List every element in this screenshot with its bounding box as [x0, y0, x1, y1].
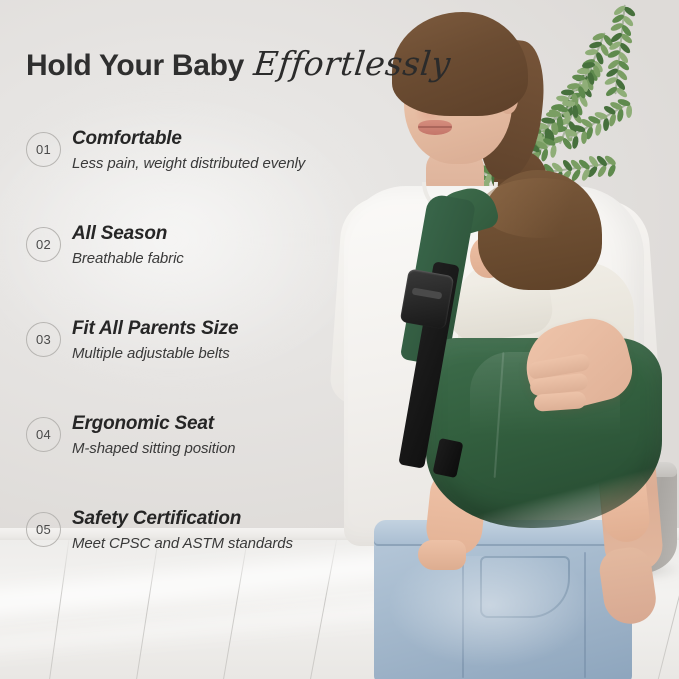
feature-title: Comfortable — [72, 128, 182, 150]
feature-title: Fit All Parents Size — [72, 318, 238, 340]
feature-number-badge: 01 — [26, 132, 61, 167]
feature-item: 01 Comfortable Less pain, weight distrib… — [20, 128, 350, 223]
headline: Hold Your Baby Effortlessly — [26, 44, 451, 83]
feature-subtitle: M-shaped sitting position — [72, 440, 235, 457]
jeans-fade-highlight — [390, 556, 590, 666]
finger-3 — [533, 391, 586, 412]
lips — [418, 120, 452, 135]
feature-title: All Season — [72, 223, 167, 245]
feature-list: 01 Comfortable Less pain, weight distrib… — [20, 128, 350, 603]
carrier-buckle — [400, 268, 455, 329]
baby-hair — [480, 178, 600, 238]
feature-item: 04 Ergonomic Seat M-shaped sitting posit… — [20, 413, 350, 508]
lip-line — [418, 126, 452, 128]
feature-item: 02 All Season Breathable fabric — [20, 223, 350, 318]
feature-number-badge: 04 — [26, 417, 61, 452]
feature-number-badge: 05 — [26, 512, 61, 547]
feature-title: Ergonomic Seat — [72, 413, 214, 435]
feature-item: 03 Fit All Parents Size Multiple adjusta… — [20, 318, 350, 413]
feature-subtitle: Meet CPSC and ASTM standards — [72, 535, 293, 552]
headline-bold: Hold Your Baby — [26, 49, 244, 83]
marketing-image: Hold Your Baby Effortlessly 01 Comfortab… — [0, 0, 679, 679]
baby-foot — [418, 540, 466, 570]
woman-figure — [330, 0, 679, 679]
feature-subtitle: Multiple adjustable belts — [72, 345, 230, 362]
feature-title: Safety Certification — [72, 508, 241, 530]
feature-item: 05 Safety Certification Meet CPSC and AS… — [20, 508, 350, 603]
feature-subtitle: Breathable fabric — [72, 250, 184, 267]
headline-script: Effortlessly — [252, 44, 453, 83]
feature-number-badge: 02 — [26, 227, 61, 262]
feature-subtitle: Less pain, weight distributed evenly — [72, 155, 305, 172]
feature-number-badge: 03 — [26, 322, 61, 357]
